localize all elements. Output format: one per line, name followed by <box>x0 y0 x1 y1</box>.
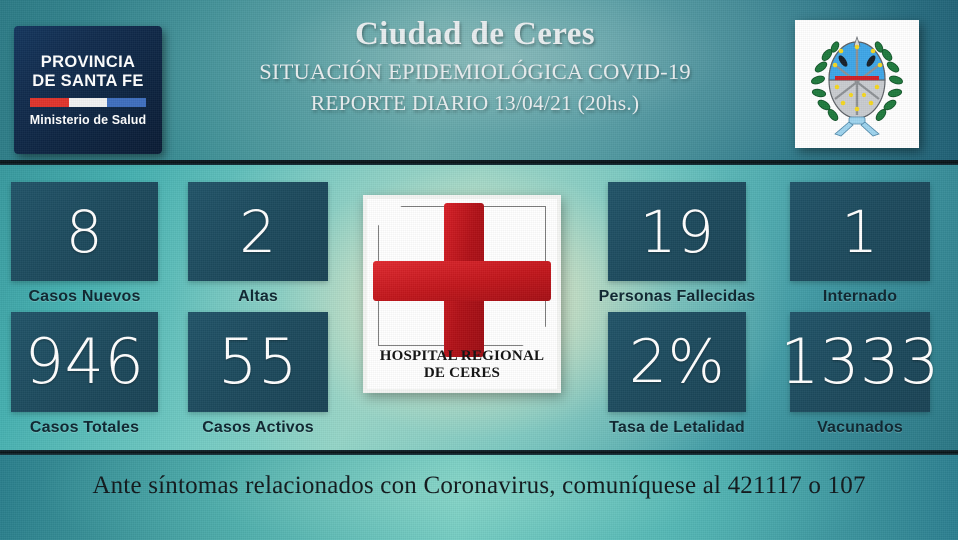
stat-label: Vacunados <box>817 419 903 437</box>
flag-blue-stripe <box>107 98 146 107</box>
poster-footer: Ante síntomas relacionados con Coronavir… <box>0 455 958 540</box>
stat-label: Casos Totales <box>30 419 139 437</box>
cross-horizontal-bar <box>373 261 551 301</box>
stat-value: 19 <box>608 182 746 281</box>
stat-label: Altas <box>238 288 278 306</box>
stat-value: 946 <box>11 312 158 412</box>
red-cross-icon <box>378 206 546 354</box>
flag-red-stripe <box>30 98 69 107</box>
contact-message: Ante síntomas relacionados con Coronavir… <box>0 472 958 500</box>
stat-label: Personas Fallecidas <box>599 288 756 306</box>
header-subtitle-report-date: REPORTE DIARIO 13/04/21 (20hs.) <box>175 91 775 116</box>
logo-ministry-name: Ministerio de Salud <box>30 113 147 127</box>
stat-label: Internado <box>823 288 897 306</box>
flag-white-stripe <box>69 98 108 107</box>
header-subtitle-epidemiological: SITUACIÓN EPIDEMIOLÓGICA COVID-19 <box>175 59 775 85</box>
logo-line-2: DE SANTA FE <box>32 72 143 91</box>
ministerio-de-salud-logo: PROVINCIA DE SANTA FE Ministerio de Salu… <box>14 26 162 154</box>
stat-value: 2% <box>608 312 746 412</box>
page-title: Ciudad de Ceres <box>175 14 775 55</box>
header-titles: Ciudad de Ceres SITUACIÓN EPIDEMIOLÓGICA… <box>175 14 775 116</box>
stat-value: 1 <box>790 182 930 281</box>
stat-label: Casos Activos <box>202 419 314 437</box>
stat-value: 8 <box>11 182 158 281</box>
stat-value: 2 <box>188 182 328 281</box>
hospital-name-line-2: DE CERES <box>367 365 557 383</box>
stat-label: Tasa de Letalidad <box>609 419 745 437</box>
flag-tricolor-bar <box>30 98 146 107</box>
covid-report-poster: PROVINCIA DE SANTA FE Ministerio de Salu… <box>0 0 958 540</box>
logo-line-1: PROVINCIA <box>32 53 143 72</box>
coat-of-arms-icon <box>805 27 909 141</box>
hospital-name: HOSPITAL REGIONAL DE CERES <box>367 348 557 383</box>
santa-fe-coat-of-arms <box>795 20 919 148</box>
poster-header: PROVINCIA DE SANTA FE Ministerio de Salu… <box>0 0 958 163</box>
stat-label: Casos Nuevos <box>28 288 140 306</box>
hospital-name-line-1: HOSPITAL REGIONAL <box>367 348 557 366</box>
logo-province-name: PROVINCIA DE SANTA FE <box>32 53 143 91</box>
hospital-regional-de-ceres-logo: HOSPITAL REGIONAL DE CERES <box>363 195 561 393</box>
stat-value: 1333 <box>777 312 943 412</box>
statistics-grid: 8 Casos Nuevos 2 Altas 19 Personas Falle… <box>0 165 958 452</box>
stat-value: 55 <box>188 312 328 412</box>
